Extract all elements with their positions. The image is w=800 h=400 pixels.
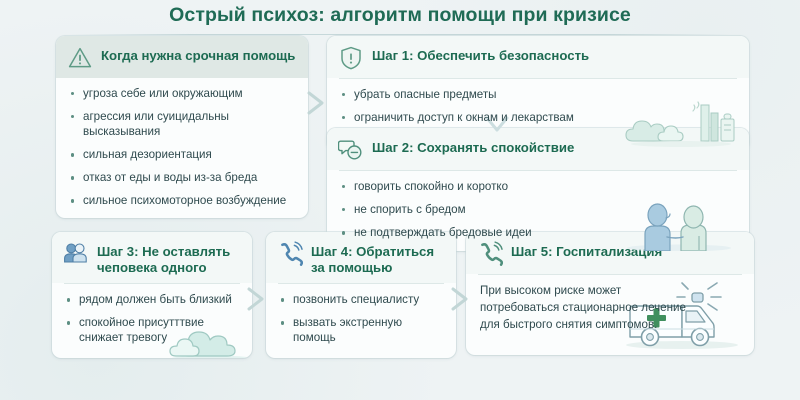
warning-list: угроза себе или окружающим агрессия или … (70, 86, 296, 208)
list-item: убрать опасные предметы (341, 87, 737, 102)
warning-card-title: Когда нужна срочная помощь (101, 45, 295, 64)
list-item: агрессия или суицидальны высказывания (70, 109, 296, 139)
step3-card-body: рядом должен быть близкий спокойное прис… (52, 284, 252, 358)
step5-card-body: При высоком риске может потребоваться ст… (466, 275, 754, 355)
list-item: говорить спокойно и коротко (341, 179, 737, 194)
warning-card-body: угроза себе или окружающим агрессия или … (56, 78, 308, 218)
list-item: сильная дезориентация (70, 147, 296, 162)
warning-card-header: Когда нужна срочная помощь (56, 36, 308, 78)
list-item: угроза себе или окружающим (70, 86, 296, 101)
step2-card-body: говорить спокойно и коротко не спорить с… (327, 171, 749, 251)
two-persons-icon (63, 241, 89, 267)
title-divider (70, 34, 730, 35)
list-item: отказ от еды и воды из-за бреда (70, 170, 296, 185)
phone-waves-icon (277, 241, 303, 267)
step3-card: Шаг 3: Не оставлять чеповека одного рядо… (52, 232, 252, 358)
list-item: сильное психомоторное возбуждение (70, 193, 296, 208)
list-item: позвонить специалисту (280, 292, 444, 307)
step3-card-title: Шаг 3: Не оставлять чеповека одного (97, 241, 240, 276)
title-block: Острый психоз: алгоритм помощи при кризи… (0, 0, 800, 35)
step1-card-title: Шаг 1: Обеспечить безопасность (372, 45, 589, 64)
page-title: Острый психоз: алгоритм помощи при кризи… (0, 0, 800, 27)
step3-list: рядом должен быть близкий спокойное прис… (66, 292, 240, 345)
step1-card-header: Шаг 1: Обеспечить безопасность (327, 36, 749, 78)
list-item: не подтверждать бредовые идеи (341, 225, 737, 240)
step1-card: Шаг 1: Обеспечить безопасность убрать оп… (327, 36, 749, 151)
list-item: не спорить с бредом (341, 202, 737, 217)
list-item: вызвать экстренную помощь (280, 315, 444, 345)
list-item: ограничить доступ к окнам и лекарствам (341, 110, 737, 125)
step5-paragraph: При высоком риске может потребоваться ст… (480, 283, 695, 333)
step2-list: говорить спокойно и коротко не спорить с… (341, 179, 737, 240)
step1-card-body: убрать опасные предметы ограничить досту… (327, 79, 749, 151)
list-item: рядом должен быть близкий (66, 292, 240, 307)
step1-list: убрать опасные предметы ограничить досту… (341, 87, 737, 125)
shield-exclamation-icon (338, 45, 364, 71)
warning-triangle-icon (67, 45, 93, 71)
list-item: спокойное присутттвие снижает тревогу (66, 315, 240, 345)
step4-list: позвонить специалисту вызвать экстренную… (280, 292, 444, 345)
warning-card: Когда нужна срочная помощь угроза себе и… (56, 36, 308, 218)
step4-card-body: позвонить специалисту вызвать экстренную… (266, 284, 456, 358)
step3-card-header: Шаг 3: Не оставлять чеповека одного (52, 232, 252, 283)
